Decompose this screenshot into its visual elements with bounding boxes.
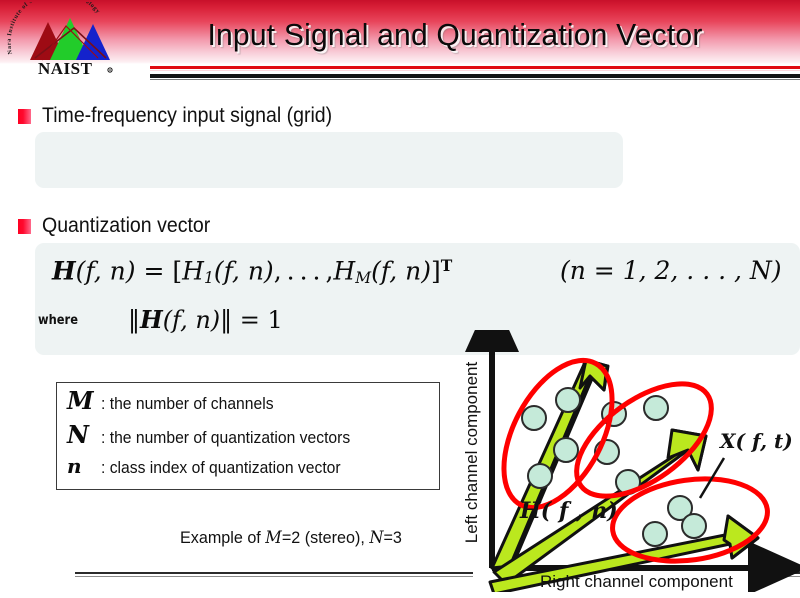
formula-term1-args: (f, n) xyxy=(214,257,274,286)
formula-termM: H xyxy=(333,257,355,286)
y-axis-label: Left channel component xyxy=(462,345,482,560)
formula-lhs-args: (f, n) xyxy=(76,257,136,286)
bullet-item-quantization-vector: Quantization vector xyxy=(18,214,223,238)
norm-args: (f, n) xyxy=(163,306,220,334)
footer-rule-left-thin xyxy=(75,576,473,577)
legend-description: : class index of quantization vector xyxy=(101,459,341,478)
example-m-symbol: M xyxy=(265,528,282,548)
where-label: where xyxy=(38,312,78,328)
formula-termM-sub: M xyxy=(355,269,371,287)
formula-equals: = xyxy=(143,257,164,286)
quantization-vector-label: H( f , n) xyxy=(519,498,618,524)
legend-description: : the number of quantization vectors xyxy=(101,429,350,448)
bullet-label: Quantization vector xyxy=(42,214,210,238)
naist-logo: Nara Institute of Science and Technology… xyxy=(2,2,142,80)
footer-rule-left xyxy=(75,572,473,574)
legend-symbol: N xyxy=(67,420,101,449)
norm-open-bar: ‖ xyxy=(128,306,140,334)
formula-ellipsis: , . . . , xyxy=(274,257,334,286)
page-title: Input Signal and Quantization Vector xyxy=(149,12,760,58)
slide-canvas: Input Signal and Quantization Vector Nar… xyxy=(0,0,800,598)
legend-row-m: M : the number of channels xyxy=(57,386,439,420)
data-point-label: X( f, t) xyxy=(718,429,793,453)
legend-symbol: M xyxy=(67,386,101,415)
formula-term1-sub: 1 xyxy=(204,269,214,287)
data-point xyxy=(528,464,552,488)
data-point xyxy=(556,388,580,412)
formula-quantization-vector: H(f, n) = [H1(f, n), . . . ,HM(f, n)]T xyxy=(52,256,452,287)
formula-norm-constraint: ‖H(f, n)‖ = 1 xyxy=(128,305,283,334)
header-rule-black-thin xyxy=(150,79,800,80)
data-point xyxy=(554,438,578,462)
data-point xyxy=(682,514,706,538)
formula-box-input-signal: X(f, τ) = [X1(f, τ), . . . ,XM(f, τ)]T xyxy=(35,132,623,188)
data-point-group-3 xyxy=(643,496,706,546)
norm-vector: H xyxy=(140,305,163,334)
bullet-square-icon xyxy=(18,219,31,234)
bullet-label: Time-frequency input signal (grid) xyxy=(42,104,332,128)
symbol-legend-box: M : the number of channels N : the numbe… xyxy=(56,382,440,490)
legend-description: : the number of channels xyxy=(101,395,274,414)
formula-term1: H xyxy=(182,257,204,286)
formula-lhs-vector: H xyxy=(52,257,76,286)
quantization-scatter-diagram: X( f, t) H( f , n) xyxy=(462,330,800,592)
legend-symbol: n xyxy=(67,454,101,478)
data-point xyxy=(643,522,667,546)
x-axis-label: Right channel component xyxy=(540,572,733,592)
example-m-value: =2 (stereo), xyxy=(282,528,370,547)
norm-rhs: = 1 xyxy=(240,306,283,334)
header-rule-black xyxy=(150,74,800,78)
legend-row-n-upper: N : the number of quantization vectors xyxy=(57,420,439,454)
data-point xyxy=(644,396,668,420)
formula-index-range: (n = 1, 2, . . . , N) xyxy=(560,256,782,285)
legend-row-n-lower: n : class index of quantization vector xyxy=(57,454,439,488)
example-prefix: Example of xyxy=(180,528,265,547)
norm-close-bar: ‖ xyxy=(220,306,232,334)
formula-open-bracket: [ xyxy=(172,257,182,286)
bullet-square-icon xyxy=(18,109,31,124)
bullet-item-input-signal: Time-frequency input signal (grid) xyxy=(18,104,354,128)
header-rule-red xyxy=(150,66,800,69)
example-n-symbol: N xyxy=(369,528,383,548)
formula-transpose: T xyxy=(441,256,453,275)
formula-termM-args: (f, n) xyxy=(371,257,431,286)
example-n-value: =3 xyxy=(383,528,401,547)
formula-close-bracket: ] xyxy=(431,257,441,286)
data-point xyxy=(522,406,546,430)
header-rule-highlight xyxy=(150,70,800,71)
svg-text:NAIST: NAIST xyxy=(38,59,93,78)
example-caption: Example of M=2 (stereo), N=3 xyxy=(180,528,402,548)
